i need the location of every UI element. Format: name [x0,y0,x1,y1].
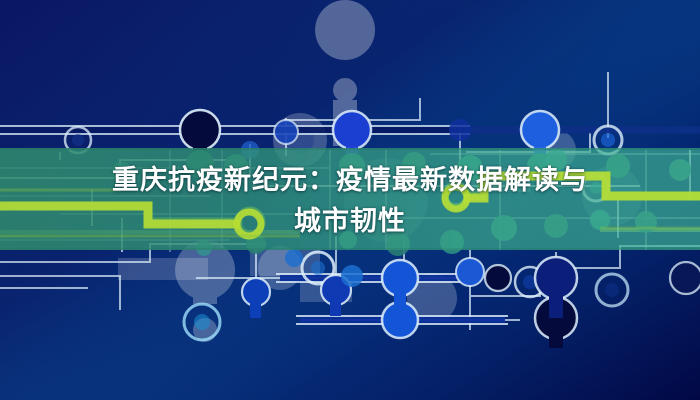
lime-accent-layer [0,0,700,400]
banner-image: 重庆抗疫新纪元：疫情最新数据解读与 城市韧性 [0,0,700,400]
